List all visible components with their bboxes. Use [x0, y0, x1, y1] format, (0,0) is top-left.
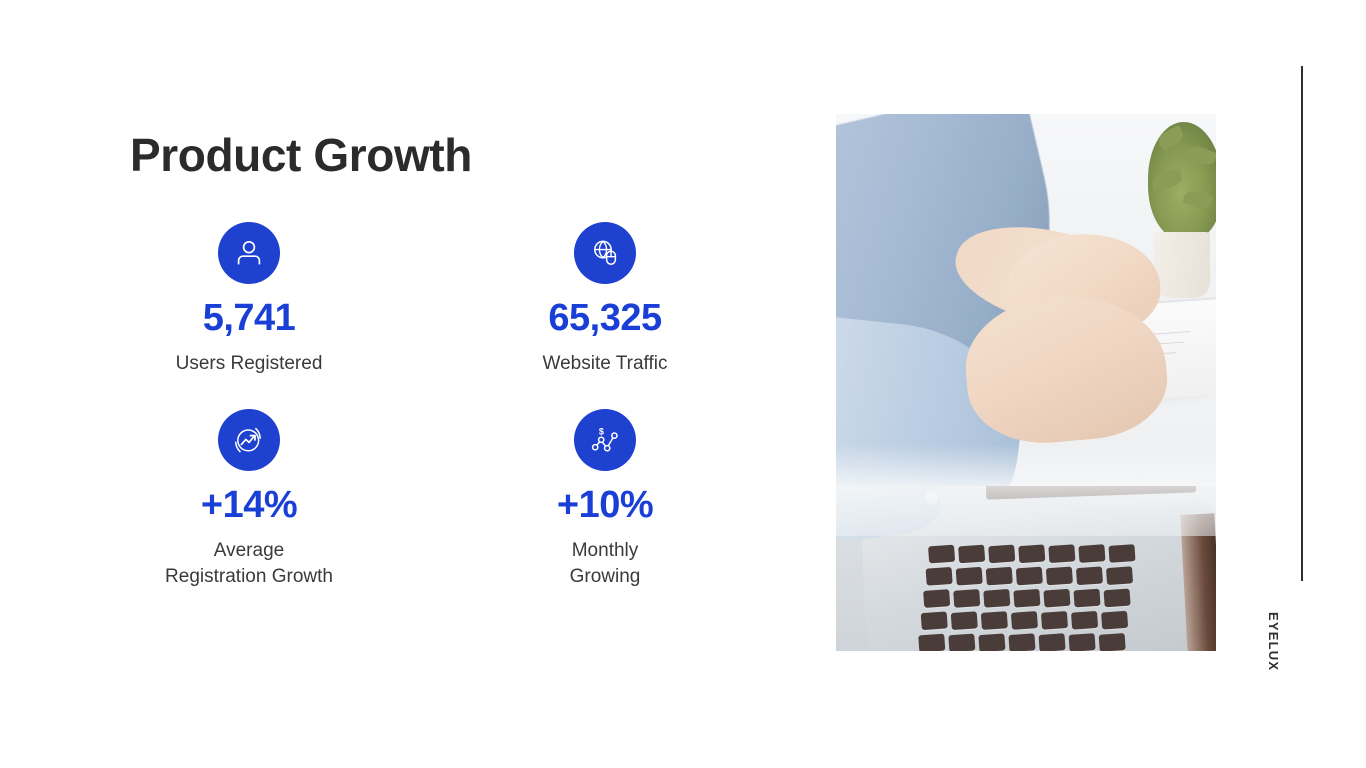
brand-name: EYELUX: [1266, 612, 1281, 722]
stat-label: Website Traffic: [543, 351, 668, 377]
stat-label: Monthly Growing: [570, 538, 641, 590]
photo-laptop-keyboard: [836, 486, 1216, 651]
line-chart-dollar-icon: $: [574, 409, 636, 471]
stat-card-monthly-growing: $ +10% Monthly Growing: [486, 409, 724, 590]
stat-card-users-registered: 5,741 Users Registered: [130, 222, 368, 377]
globe-mouse-icon: [574, 222, 636, 284]
brand-divider: [1301, 66, 1303, 581]
stat-value: +14%: [201, 486, 297, 524]
photo-plant-pot: [1154, 232, 1210, 298]
stat-label: Users Registered: [176, 351, 323, 377]
stat-card-website-traffic: 65,325 Website Traffic: [486, 222, 724, 377]
photo-keys: [928, 530, 1176, 651]
user-icon: [218, 222, 280, 284]
stats-grid: 5,741 Users Registered 65,325 Website Tr…: [130, 222, 730, 589]
stat-value: +10%: [557, 486, 653, 524]
photo-laptop-screen-edge: [986, 486, 1196, 500]
photo-collage: [836, 114, 1216, 651]
svg-text:$: $: [599, 426, 604, 436]
stat-card-average-registration-growth: +14% Average Registration Growth: [130, 409, 368, 590]
photo-shirt-button: [924, 490, 939, 505]
growth-arrow-icon: [218, 409, 280, 471]
photo-desk-edge: [1180, 513, 1216, 651]
stat-label: Average Registration Growth: [165, 538, 333, 590]
slide-canvas: Product Growth 5,741 Users Registered: [0, 0, 1366, 768]
stat-value: 5,741: [203, 299, 296, 337]
page-title: Product Growth: [130, 130, 472, 182]
stat-value: 65,325: [548, 299, 661, 337]
photo-desk-writing: [836, 114, 1216, 486]
